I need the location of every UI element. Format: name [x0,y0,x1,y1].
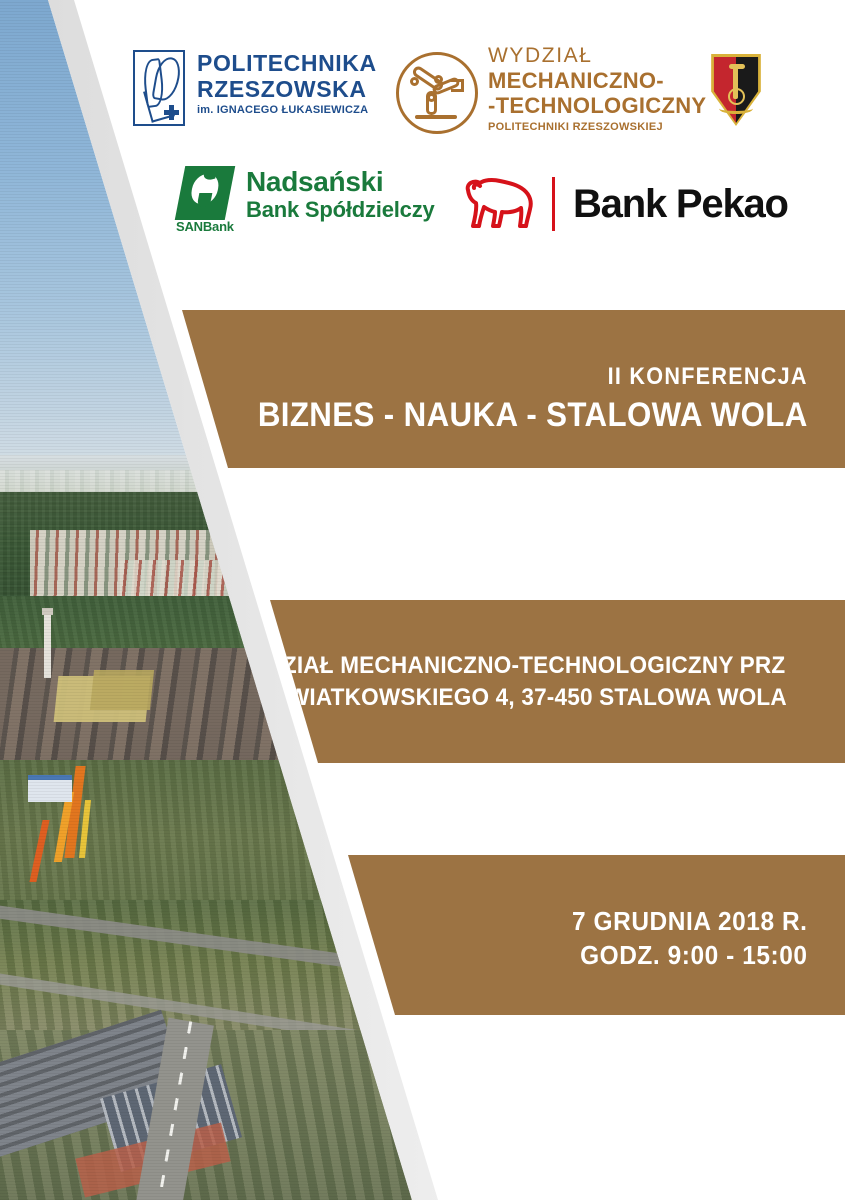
robot-joint-2 [434,75,443,84]
prz-monogram-icon [133,50,185,126]
wmt-wordmark: WYDZIAŁ MECHANICZNO- -TECHNOLOGICZNY POL… [488,44,706,133]
crest-ribbon [719,103,753,114]
wmt-line-1: WYDZIAŁ [488,44,706,68]
conference-subtitle: II KONFERENCJA [270,362,808,391]
logo-politechnika-rzeszowska: POLITECHNIKA RZESZOWSKA im. IGNACEGO ŁUK… [133,50,377,126]
sanbank-wordmark: Nadsański Bank Spółdzielczy [246,166,435,223]
address-line-2: UL. KWIATKOWSKIEGO 4, 37-450 STALOWA WOL… [190,682,825,714]
logo-wydzial-mechaniczno-technologiczny: WYDZIAŁ MECHANICZNO- -TECHNOLOGICZNY POL… [396,44,706,133]
robot-gripper-icon [451,79,464,92]
bison-svg [460,176,542,232]
prz-line-2: RZESZOWSKA [197,76,377,102]
date-text-block: 7 GRUDNIA 2018 R. GODZ. 9:00 - 15:00 [557,904,808,972]
sanbank-line-1: Nadsański [246,166,435,197]
bison-icon [460,176,542,232]
sponsor-logo-area: POLITECHNIKA RZESZOWSKA im. IGNACEGO ŁUK… [0,0,845,270]
logo-nadsanski-bank-spoldzielczy: SANBank Nadsański Bank Spółdzielczy [176,166,435,236]
title-text-block: II KONFERENCJA BIZNES - NAUKA - STALOWA … [210,362,808,436]
conference-poster: POLITECHNIKA RZESZOWSKA im. IGNACEGO ŁUK… [0,0,845,1200]
maltese-cross-icon [164,105,179,120]
wmt-line-3: -TECHNOLOGICZNY [488,93,706,118]
address-line-1: WYDZIAŁ MECHANICZNO-TECHNOLOGICZNY PRZ [190,650,825,682]
shield-crest-icon [709,54,763,126]
wmt-line-4: POLITECHNIKI RZESZOWSKIEJ [488,121,706,133]
pekao-wordmark: Bank Pekao [573,183,788,225]
sanbank-line-2: Bank Spółdzielczy [246,197,435,223]
robot-joint-1 [410,77,419,86]
logo-bank-pekao: Bank Pekao [460,176,788,232]
apple-parallelogram-icon: SANBank [176,166,234,236]
conference-title: BIZNES - NAUKA - STALOWA WOLA [258,394,808,436]
prz-line-3: im. IGNACEGO ŁUKASIEWICZA [197,104,377,116]
wmt-line-2: MECHANICZNO- [488,68,706,93]
robot-joint-3 [427,93,436,102]
pekao-divider [552,177,555,231]
prz-wordmark: POLITECHNIKA RZESZOWSKA im. IGNACEGO ŁUK… [197,50,377,116]
robot-arm-icon [396,52,478,134]
sanbank-mark-label: SANBank [176,219,234,234]
logo-row-secondary: SANBank Nadsański Bank Spółdzielczy Bank… [0,166,845,250]
date-line: 7 GRUDNIA 2018 R. [572,904,808,938]
crest-tool-head [729,64,745,69]
robot-base [415,115,457,119]
time-line: GODZ. 9:00 - 15:00 [572,938,808,972]
logo-row-primary: POLITECHNIKA RZESZOWSKA im. IGNACEGO ŁUK… [0,44,845,144]
prz-line-1: POLITECHNIKA [197,50,377,76]
